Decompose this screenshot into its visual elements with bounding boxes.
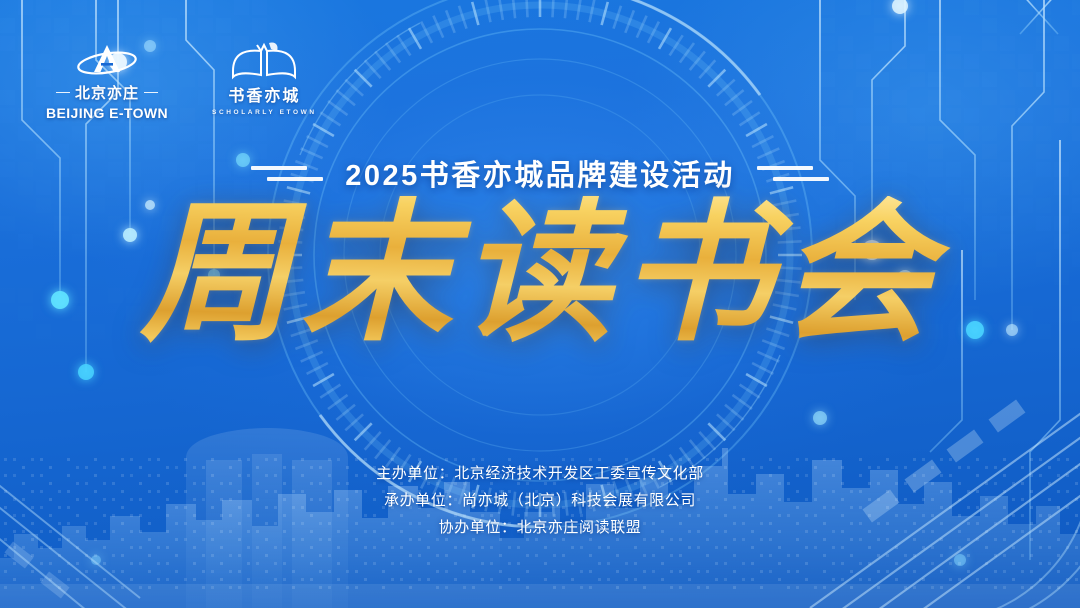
logo-scholarly-etown-cn: 书香亦城 [228, 82, 300, 106]
credit-line-host: 主办单位：北京经济技术开发区工委宣传文化部 [376, 462, 704, 483]
subtitle-dashes-left [251, 166, 323, 181]
logo-scholarly-etown: 书香亦城 SCHOLARLY ETOWN [212, 40, 317, 116]
credit-line-organizer: 承办单位：尚亦城（北京）科技会展有限公司 [384, 489, 696, 510]
event-subtitle: 2025书香亦城品牌建设活动 [345, 152, 735, 194]
subtitle-row: 2025书香亦城品牌建设活动 [0, 152, 1080, 194]
logo-beijing-etown-en: BEIJING E-TOWN [46, 105, 168, 121]
logo-beijing-etown-cn-text: 北京亦庄 [75, 82, 139, 103]
event-poster: 北京亦庄 BEIJING E-TOWN 书香亦城 SCHOLARLY ETOWN [0, 0, 1080, 608]
open-book-logo-icon [227, 40, 301, 80]
logo-dash-left [56, 92, 70, 94]
organizer-credits: 主办单位：北京经济技术开发区工委宣传文化部 承办单位：尚亦城（北京）科技会展有限… [0, 462, 1080, 537]
logo-scholarly-etown-en: SCHOLARLY ETOWN [212, 109, 317, 116]
etown-orbit-logo-icon [75, 40, 139, 80]
subtitle-dashes-right [757, 166, 829, 181]
credit-line-coorganizer: 协办单位：北京亦庄阅读联盟 [439, 516, 642, 537]
logo-scholarly-etown-cn-text: 书香亦城 [228, 82, 300, 106]
main-title: 周末读书会 [0, 196, 1080, 356]
logo-group: 北京亦庄 BEIJING E-TOWN 书香亦城 SCHOLARLY ETOWN [46, 40, 317, 121]
logo-beijing-etown-cn: 北京亦庄 [56, 82, 158, 103]
logo-dash-right [144, 92, 158, 94]
logo-beijing-etown: 北京亦庄 BEIJING E-TOWN [46, 40, 168, 121]
